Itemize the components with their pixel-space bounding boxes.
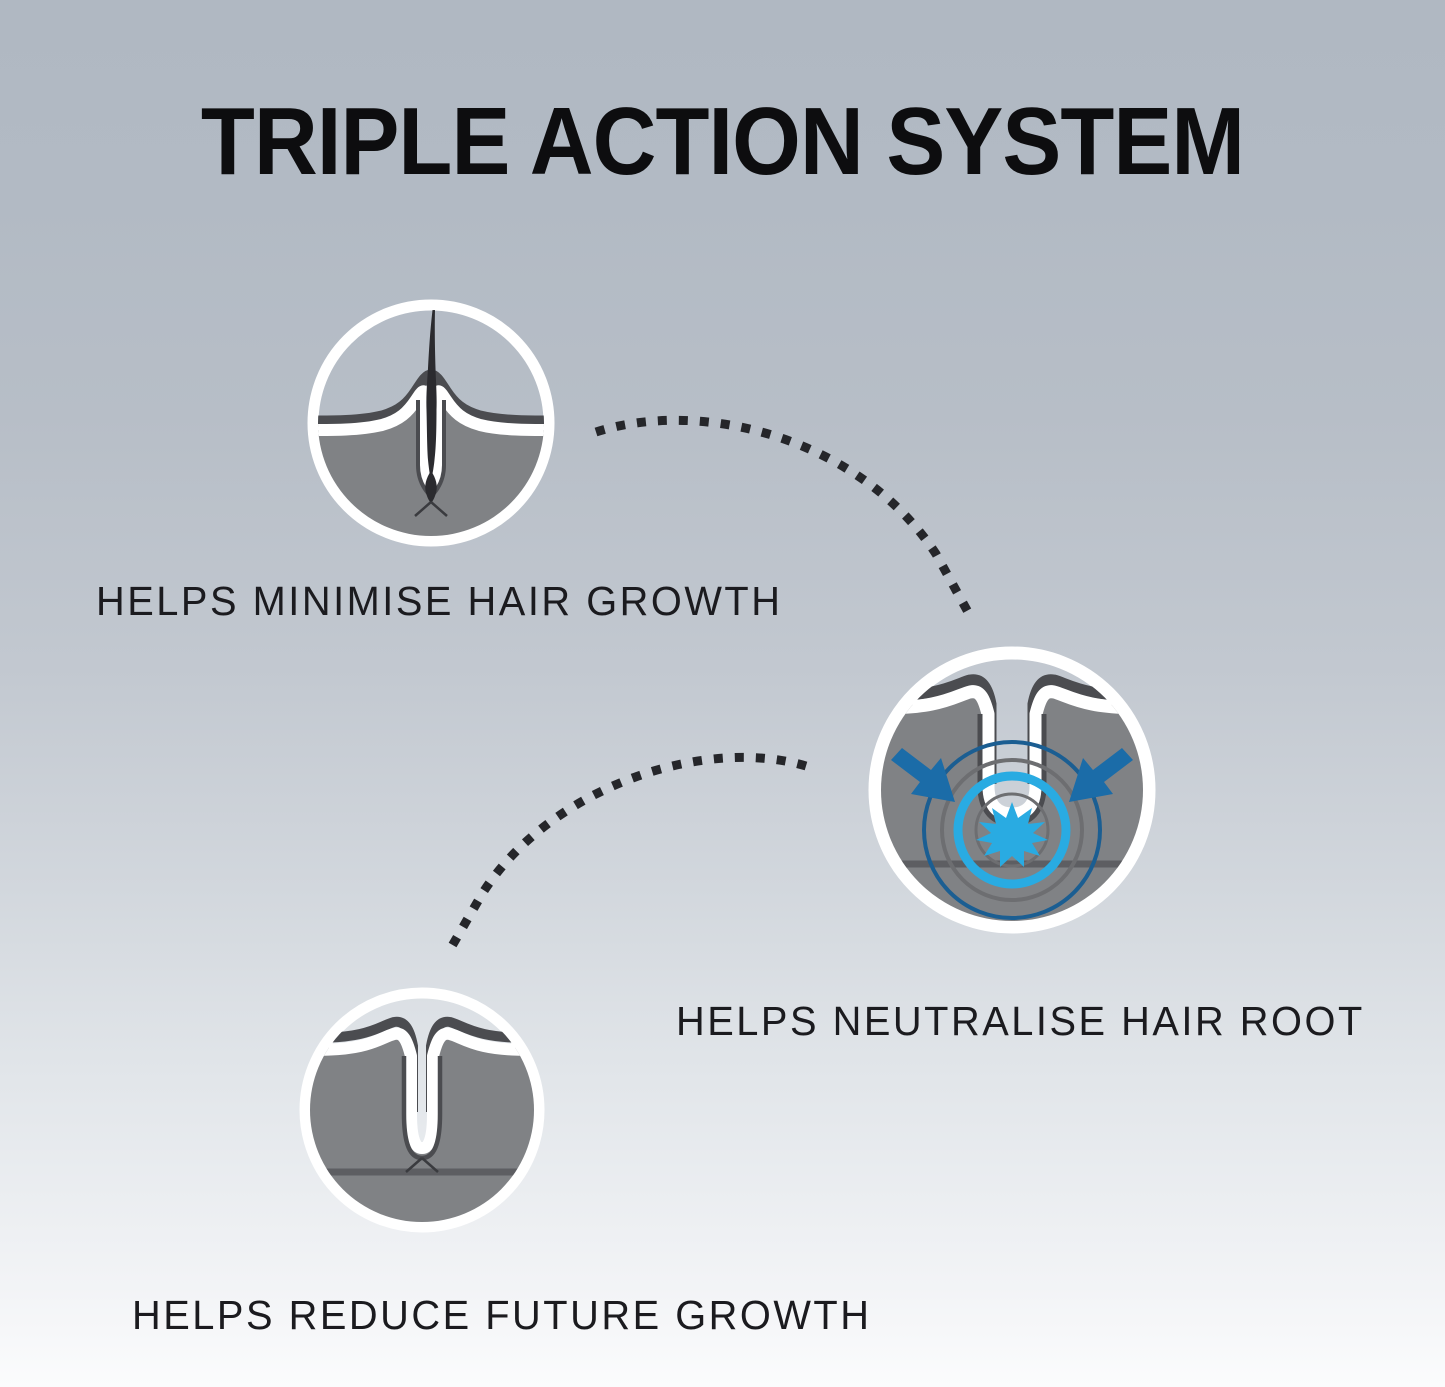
triple-action-system-infographic: TRIPLE ACTION SYSTEM	[0, 0, 1445, 1387]
caption-neutralise-hair-root: HELPS NEUTRALISE HAIR ROOT	[676, 998, 1365, 1044]
dotted-arc-connector-2	[438, 744, 810, 956]
page-title: TRIPLE ACTION SYSTEM	[58, 92, 1387, 192]
icon-neutralise-hair-root	[856, 634, 1168, 946]
icon-hair-follicle-with-hair	[296, 288, 566, 558]
caption-minimise-hair-growth: HELPS MINIMISE HAIR GROWTH	[96, 578, 782, 624]
icon-empty-follicle	[288, 976, 556, 1244]
caption-reduce-future-growth: HELPS REDUCE FUTURE GROWTH	[132, 1292, 871, 1338]
